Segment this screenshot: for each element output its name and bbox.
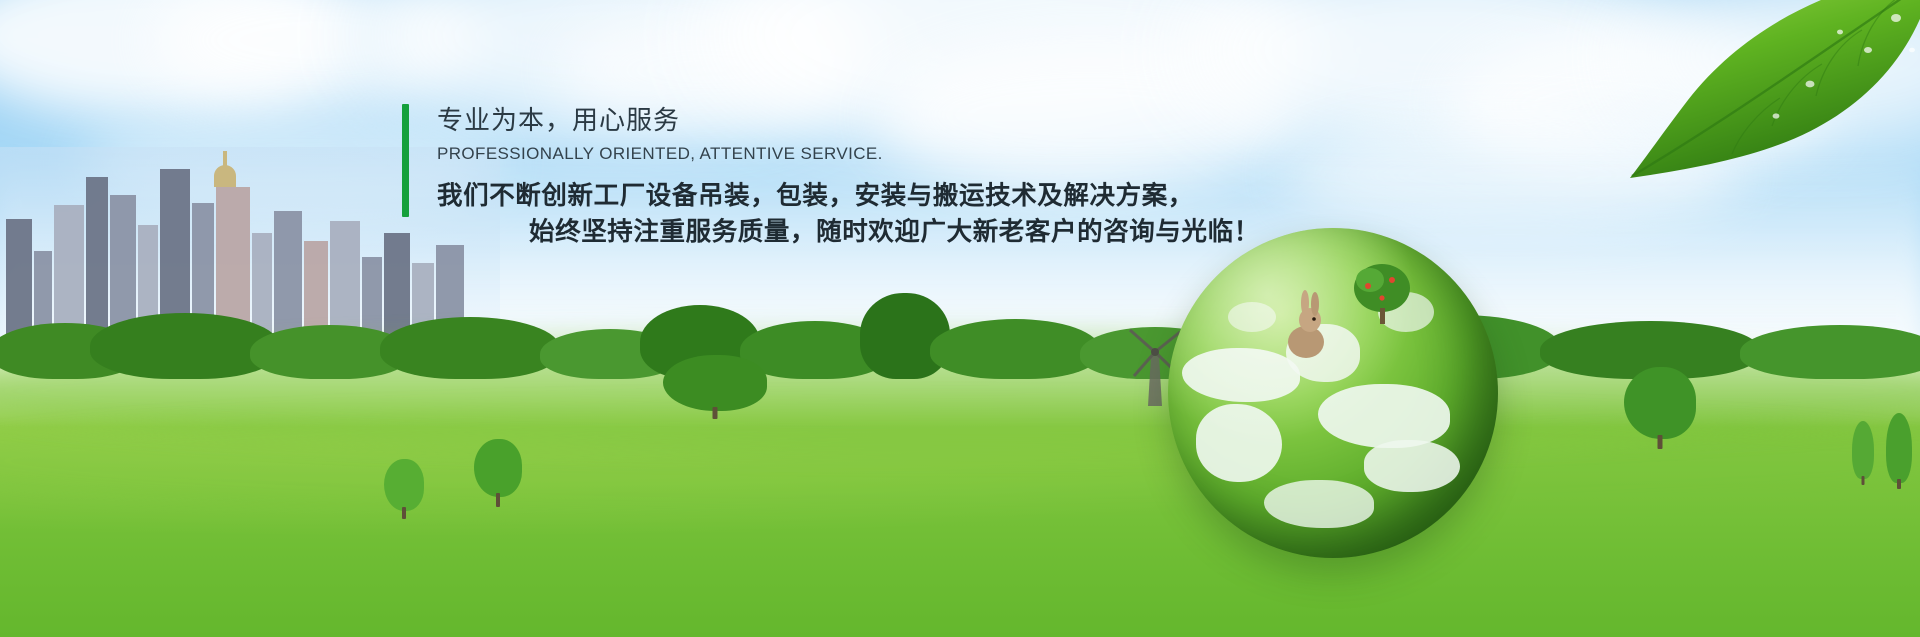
- lawn-tree: [1882, 409, 1916, 489]
- rabbit-icon: [1278, 286, 1334, 364]
- lawn-tree: [660, 349, 770, 419]
- hero-text-block: 专业为本，用心服务 PROFESSIONALLY ORIENTED, ATTEN…: [402, 104, 1260, 250]
- hero-headline: 专业为本，用心服务: [437, 104, 1260, 137]
- hero-paragraph-line-2: 始终坚持注重服务质量，随时欢迎广大新老客户的咨询与光临！: [437, 214, 1260, 250]
- green-accent-bar: [402, 104, 409, 217]
- hero-subheadline: PROFESSIONALLY ORIENTED, ATTENTIVE SERVI…: [437, 144, 1260, 164]
- hero-paragraph-line-1: 我们不断创新工厂设备吊装，包装，安装与搬运技术及解决方案，: [437, 178, 1260, 214]
- lawn-tree: [1620, 363, 1700, 449]
- green-leaf-icon: [1600, 0, 1920, 182]
- hero-banner: 专业为本，用心服务 PROFESSIONALLY ORIENTED, ATTEN…: [0, 0, 1920, 637]
- lawn-tree: [470, 437, 526, 507]
- green-earth-globe: [1168, 228, 1498, 558]
- globe-tree-icon: [1348, 258, 1418, 328]
- lawn-tree: [1848, 419, 1878, 485]
- hero-paragraph: 我们不断创新工厂设备吊装，包装，安装与搬运技术及解决方案， 始终坚持注重服务质量…: [437, 178, 1260, 250]
- lawn-tree: [380, 457, 428, 519]
